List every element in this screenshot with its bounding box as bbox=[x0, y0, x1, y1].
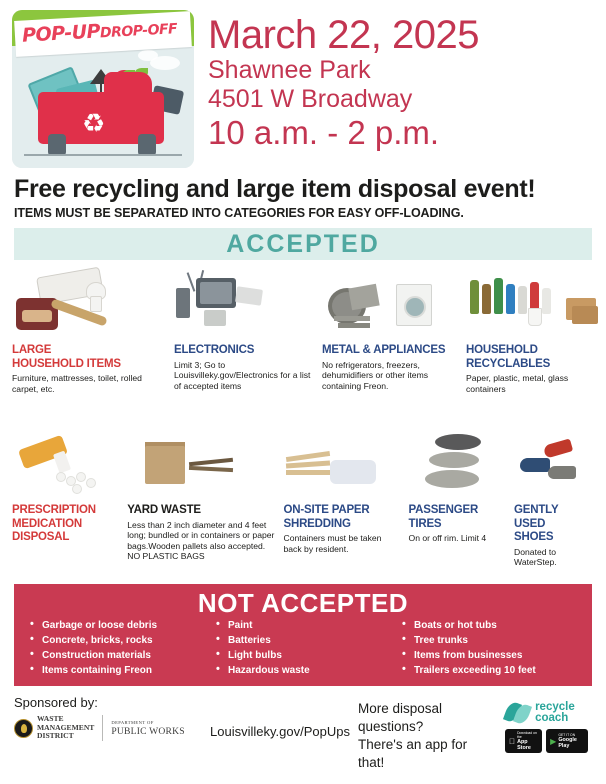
accepted-banner: ACCEPTED bbox=[14, 228, 592, 260]
cloud-icon bbox=[138, 50, 158, 61]
accepted-item-body: Containers must be taken back by residen… bbox=[284, 533, 401, 554]
not-accepted-item: Items from businesses bbox=[396, 648, 582, 663]
app-store-badge-text: Download on the App Store bbox=[517, 731, 538, 751]
tire-icon bbox=[435, 434, 481, 450]
branch-bundle-icon bbox=[189, 458, 233, 467]
truck-wheel-art bbox=[138, 134, 156, 156]
not-accepted-column-3: Boats or hot tubs Tree trunks Items from… bbox=[396, 618, 582, 678]
household-recyclables-thumbnail bbox=[466, 266, 594, 338]
app-promo-line2: There's an app for that! bbox=[358, 736, 495, 772]
accepted-row-2: PRESCRIPTIONMEDICATIONDISPOSAL YARD WAST… bbox=[0, 420, 606, 582]
washer-door-art bbox=[404, 296, 426, 318]
accepted-item-paper-shredding: ON-SITE PAPERSHREDDING Containers must b… bbox=[280, 420, 405, 582]
electronics-thumbnail bbox=[174, 266, 314, 338]
subheading-secondary: ITEMS MUST BE SEPARATED INTO CATEGORIES … bbox=[14, 204, 596, 222]
app-store-badge[interactable]:  Download on the App Store bbox=[505, 729, 542, 753]
not-accepted-item: Light bulbs bbox=[210, 648, 396, 663]
accepted-item-body: Less than 2 inch diameter and 4 feet lon… bbox=[127, 520, 275, 562]
tires-thumbnail bbox=[409, 426, 507, 498]
badge1-top: Download on the bbox=[517, 731, 538, 739]
accepted-item-title: HOUSEHOLDRECYCLABLES bbox=[466, 344, 594, 371]
yard-waste-thumbnail bbox=[127, 426, 275, 498]
accepted-item-body: Furniture, mattresses, toilet, rolled ca… bbox=[12, 373, 166, 394]
not-accepted-item: Hazardous waste bbox=[210, 663, 396, 678]
shoe-icon bbox=[548, 466, 576, 479]
event-url[interactable]: Louisvilleky.gov/PopUps bbox=[210, 694, 358, 739]
app-promo-line1: More disposal questions? bbox=[358, 700, 495, 736]
printer-icon bbox=[204, 310, 226, 326]
accepted-item-body: Donated to WaterStep. bbox=[514, 547, 594, 568]
not-accepted-item: Tree trunks bbox=[396, 633, 582, 648]
prescription-thumbnail bbox=[12, 426, 119, 498]
glass-bottle-icon bbox=[470, 280, 479, 314]
sponsors-block: Sponsored by: WASTE MANAGEMENT DISTRICT … bbox=[14, 694, 210, 741]
footer: Sponsored by: WASTE MANAGEMENT DISTRICT … bbox=[0, 686, 606, 772]
plastic-bottle-icon bbox=[518, 286, 527, 314]
recycle-coach-icon bbox=[505, 700, 531, 726]
pill-bottle-cap-art bbox=[53, 451, 71, 474]
app-promo-text: More disposal questions? There's an app … bbox=[358, 700, 495, 772]
accepted-item-body: Paper, plastic, metal, glass containers bbox=[466, 373, 594, 394]
cup-icon bbox=[528, 308, 542, 326]
laptop-icon bbox=[235, 286, 263, 305]
plastic-bottle-icon bbox=[506, 284, 515, 314]
not-accepted-item: Garbage or loose debris bbox=[24, 618, 210, 633]
google-play-badge[interactable]: ▶ GET IT ON Google Play bbox=[546, 729, 588, 753]
accepted-item-large-household: LARGEHOUSEHOLD ITEMS Furniture, mattress… bbox=[8, 260, 170, 420]
not-accepted-item: Trailers exceeding 10 feet bbox=[396, 663, 582, 678]
accepted-item-used-shoes: GENTLYUSEDSHOES Donated to WaterStep. bbox=[510, 420, 598, 582]
badge1-bottom: App Store bbox=[517, 739, 538, 751]
app-store-badges:  Download on the App Store ▶ GET IT ON … bbox=[505, 729, 592, 753]
glass-bottle-icon bbox=[494, 278, 503, 314]
accepted-item-prescription-medication: PRESCRIPTIONMEDICATIONDISPOSAL bbox=[8, 420, 123, 582]
accepted-item-title: LARGEHOUSEHOLD ITEMS bbox=[12, 344, 166, 371]
truck-wheel-art bbox=[48, 134, 66, 156]
logo-line2: DROP-OFF bbox=[100, 21, 178, 41]
sponsor2-big: PUBLIC WORKS bbox=[111, 726, 184, 737]
monitor-screen-art bbox=[200, 282, 232, 304]
app-promo: More disposal questions? There's an app … bbox=[358, 694, 592, 772]
not-accepted-columns: Garbage or loose debris Concrete, bricks… bbox=[14, 618, 592, 678]
paper-stack-icon bbox=[286, 470, 330, 475]
accepted-item-title: GENTLYUSEDSHOES bbox=[514, 504, 594, 545]
metal-bars-art bbox=[338, 323, 370, 328]
accepted-item-household-recyclables: HOUSEHOLDRECYCLABLES Paper, plastic, met… bbox=[462, 260, 598, 420]
not-accepted-banner-label: NOT ACCEPTED bbox=[14, 588, 592, 618]
computer-tower-icon bbox=[176, 288, 190, 318]
metal-appliances-thumbnail bbox=[322, 266, 458, 338]
pill-icon bbox=[72, 484, 82, 494]
shoe-icon bbox=[543, 438, 573, 458]
logo-divider bbox=[102, 715, 103, 741]
accepted-item-yard-waste: YARD WASTE Less than 2 inch diameter and… bbox=[123, 420, 279, 582]
glass-bottle-icon bbox=[482, 284, 491, 314]
waste-management-district-logo: WASTE MANAGEMENT DISTRICT bbox=[37, 715, 94, 741]
pill-icon bbox=[76, 472, 86, 482]
recycle-coach-wordmark: recycle coach bbox=[535, 702, 575, 725]
branch-bundle-icon bbox=[189, 466, 233, 472]
not-accepted-column-1: Garbage or loose debris Concrete, bricks… bbox=[24, 618, 210, 678]
scrap-metal-icon bbox=[348, 284, 379, 311]
accepted-item-metal-appliances: METAL & APPLIANCES No refrigerators, fre… bbox=[318, 260, 462, 420]
event-address: 4501 W Broadway bbox=[208, 85, 479, 114]
accepted-item-body: No refrigerators, freezers, dehumidifier… bbox=[322, 360, 458, 392]
accepted-item-body: Limit 3; Go to Louisvilleky.gov/Electron… bbox=[174, 360, 314, 392]
flyer-root: POP-UPDROP-OFF ♻ March 22, 2025 Shaw bbox=[0, 0, 606, 784]
subheading-primary: Free recycling and large item disposal e… bbox=[14, 174, 596, 204]
header: POP-UPDROP-OFF ♻ March 22, 2025 Shaw bbox=[0, 0, 606, 172]
subheading: Free recycling and large item disposal e… bbox=[0, 172, 606, 222]
accepted-item-electronics: ELECTRONICS Limit 3; Go to Louisvilleky.… bbox=[170, 260, 318, 420]
accepted-banner-label: ACCEPTED bbox=[226, 230, 380, 259]
tire-icon bbox=[425, 470, 479, 488]
pill-icon bbox=[86, 478, 96, 488]
accepted-item-title: ELECTRONICS bbox=[174, 344, 314, 358]
large-household-thumbnail bbox=[12, 266, 166, 338]
not-accepted-item: Batteries bbox=[210, 633, 396, 648]
toilet-base-art bbox=[90, 296, 102, 312]
paper-stack-icon bbox=[285, 460, 329, 468]
accepted-row-1: LARGEHOUSEHOLD ITEMS Furniture, mattress… bbox=[0, 260, 606, 420]
accepted-item-body: On or off rim. Limit 4 bbox=[409, 533, 507, 544]
sponsored-label: Sponsored by: bbox=[14, 694, 210, 711]
shredded-paper-icon bbox=[330, 460, 376, 484]
badge2-bottom: Google Play bbox=[558, 737, 584, 749]
accepted-item-title: PASSENGERTIRES bbox=[409, 504, 507, 531]
play-triangle-icon: ▶ bbox=[550, 737, 556, 746]
event-date: March 22, 2025 bbox=[208, 14, 479, 56]
accepted-item-title: METAL & APPLIANCES bbox=[322, 344, 458, 358]
shoes-thumbnail bbox=[514, 426, 594, 498]
pill-icon bbox=[56, 472, 66, 482]
not-accepted-item: Paint bbox=[210, 618, 396, 633]
accepted-item-title: PRESCRIPTIONMEDICATIONDISPOSAL bbox=[12, 504, 119, 545]
logo-line1: POP-UP bbox=[22, 20, 101, 46]
recycle-coach-logo: recycle coach  Download on the App Stor… bbox=[505, 700, 592, 753]
recycle-coach-mark-row: recycle coach bbox=[505, 700, 592, 726]
recycle-coach-line2: coach bbox=[535, 713, 575, 725]
not-accepted-item: Construction materials bbox=[24, 648, 210, 663]
apple-icon:  bbox=[509, 737, 515, 746]
accepted-item-passenger-tires: PASSENGERTIRES On or off rim. Limit 4 bbox=[405, 420, 511, 582]
google-play-badge-text: GET IT ON Google Play bbox=[558, 733, 584, 749]
event-time: 10 a.m. - 2 p.m. bbox=[208, 114, 479, 152]
event-headlines: March 22, 2025 Shawnee Park 4501 W Broad… bbox=[208, 10, 479, 172]
sofa-seat-art bbox=[22, 310, 52, 322]
shoe-icon bbox=[520, 458, 550, 472]
ground-line bbox=[24, 154, 182, 156]
public-works-logo: DEPARTMENT OF PUBLIC WORKS bbox=[111, 720, 184, 737]
plastic-bottle-icon bbox=[542, 288, 551, 314]
metal-bars-art bbox=[334, 316, 370, 321]
paper-shredding-thumbnail bbox=[284, 426, 401, 498]
tire-icon bbox=[429, 452, 479, 468]
sponsor-logos: WASTE MANAGEMENT DISTRICT DEPARTMENT OF … bbox=[14, 715, 210, 741]
not-accepted-column-2: Paint Batteries Light bulbs Hazardous wa… bbox=[210, 618, 396, 678]
not-accepted-item: Boats or hot tubs bbox=[396, 618, 582, 633]
waste-management-seal-icon bbox=[14, 719, 33, 738]
accepted-item-title: ON-SITE PAPERSHREDDING bbox=[284, 504, 401, 531]
recycle-icon: ♻ bbox=[82, 110, 105, 136]
accepted-item-title: YARD WASTE bbox=[127, 504, 275, 518]
paper-bag-icon bbox=[145, 446, 185, 484]
sponsor1-line3: DISTRICT bbox=[37, 732, 94, 741]
not-accepted-section: NOT ACCEPTED Garbage or loose debris Con… bbox=[14, 584, 592, 686]
cardboard-icon bbox=[572, 306, 598, 324]
popup-dropoff-logo: POP-UPDROP-OFF ♻ bbox=[12, 10, 194, 168]
not-accepted-item: Concrete, bricks, rocks bbox=[24, 633, 210, 648]
event-place: Shawnee Park bbox=[208, 56, 479, 85]
not-accepted-item: Items containing Freon bbox=[24, 663, 210, 678]
